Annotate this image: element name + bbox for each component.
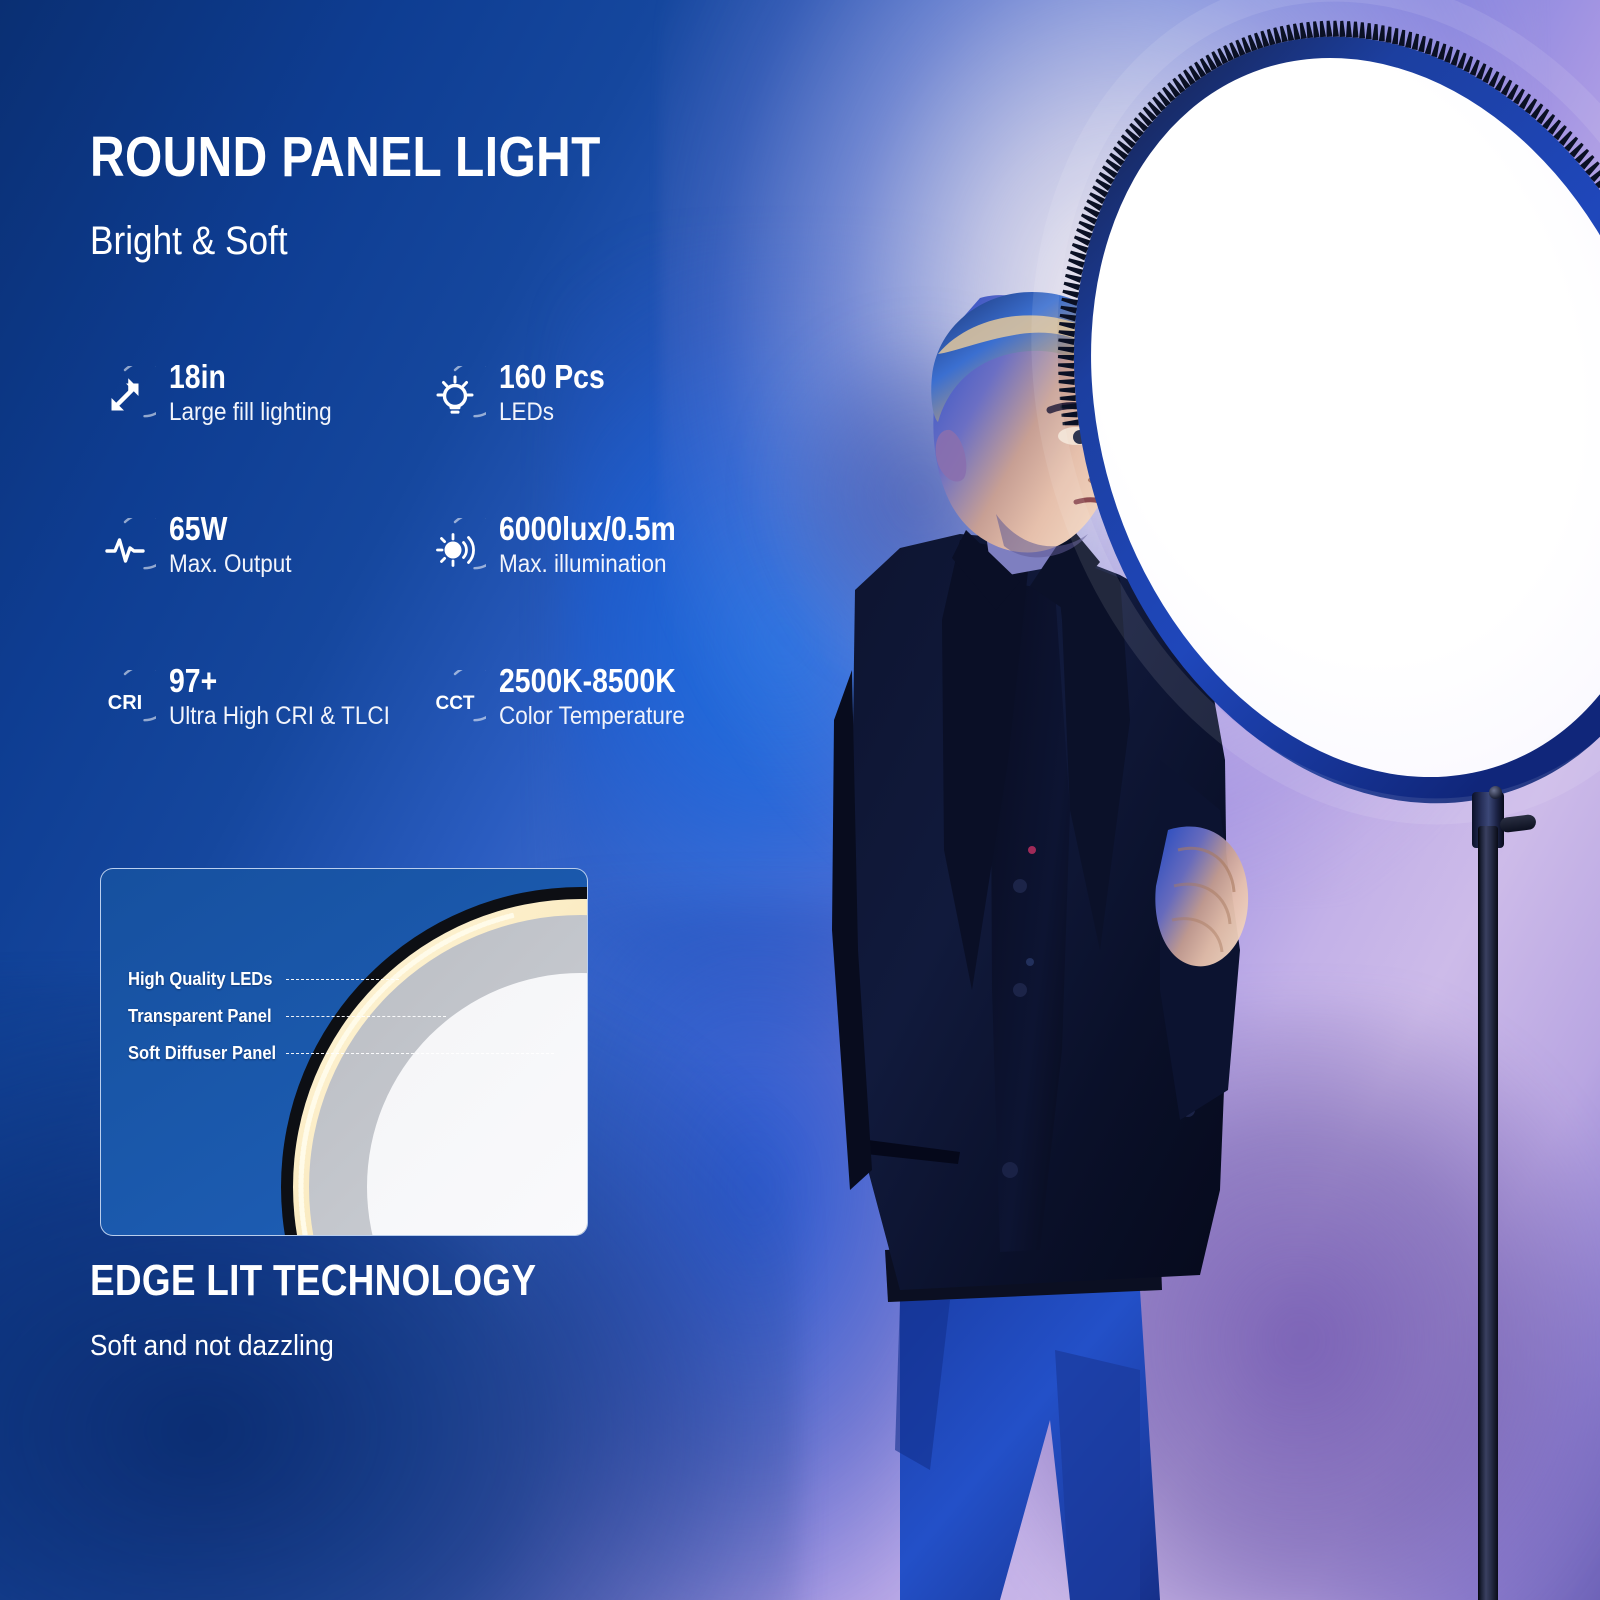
spec-value: 97+	[169, 664, 380, 698]
leader-line	[286, 979, 399, 980]
spec-label: Max. illumination	[499, 549, 684, 580]
spec-item-leds: 160 Pcs LEDs	[424, 358, 622, 510]
diagram-label-diffuser: Soft Diffuser Panel	[128, 1043, 276, 1064]
spec-item-cri: CRI 97+ Ultra High CRI & TLCI	[94, 662, 424, 814]
spec-label: Large fill lighting	[169, 397, 332, 428]
page-title: ROUND PANEL LIGHT	[90, 128, 601, 186]
diagram-label-leds: High Quality LEDs	[128, 969, 272, 990]
sun-rays-icon	[424, 518, 486, 580]
cri-badge-icon: CRI	[94, 670, 156, 732]
power-pulse-icon	[94, 518, 156, 580]
spec-value: 65W	[169, 512, 286, 546]
cri-badge-text: CRI	[108, 692, 142, 714]
page-subtitle: Bright & Soft	[90, 219, 288, 264]
edge-lit-diagram-card: High Quality LEDs Transparent Panel Soft…	[100, 868, 588, 1236]
light-stand-tilt-screw[interactable]	[1489, 786, 1502, 799]
spec-row: 65W Max. Output	[94, 510, 794, 662]
light-stand-pole	[1478, 826, 1498, 1600]
leader-line	[286, 1016, 446, 1017]
spec-list: 18in Large fill lighting	[94, 358, 794, 814]
round-panel-light-product	[1135, 0, 1600, 900]
spec-value: 6000lux/0.5m	[499, 512, 676, 546]
spec-item-illumination: 6000lux/0.5m Max. illumination	[424, 510, 704, 662]
spec-item-size: 18in Large fill lighting	[94, 358, 424, 510]
leader-line	[286, 1053, 554, 1054]
spec-label: Ultra High CRI & TLCI	[169, 701, 390, 732]
cct-badge-icon: CCT	[424, 670, 486, 732]
spec-row: 18in Large fill lighting	[94, 358, 794, 510]
spec-label: Color Temperature	[499, 701, 685, 732]
footer-subtitle: Soft and not dazzling	[90, 1330, 334, 1363]
lightbulb-icon	[424, 366, 486, 428]
expand-arrows-icon	[94, 366, 156, 428]
cct-badge-text: CCT	[435, 693, 474, 714]
spec-label: LEDs	[499, 397, 610, 428]
footer-title: EDGE LIT TECHNOLOGY	[90, 1256, 536, 1306]
diagram-label-transparent: Transparent Panel	[128, 1006, 272, 1027]
spec-item-power: 65W Max. Output	[94, 510, 424, 662]
spec-row: CRI 97+ Ultra High CRI & TLCI CCT 2500K-…	[94, 662, 794, 814]
spec-label: Max. Output	[169, 549, 292, 580]
product-marketing-banner: ROUND PANEL LIGHT Bright & Soft	[0, 0, 1600, 1600]
spec-item-cct: CCT 2500K-8500K Color Temperature	[424, 662, 706, 814]
spec-value: 18in	[169, 360, 324, 394]
spec-value: 2500K-8500K	[499, 664, 677, 698]
spec-value: 160 Pcs	[499, 360, 605, 394]
